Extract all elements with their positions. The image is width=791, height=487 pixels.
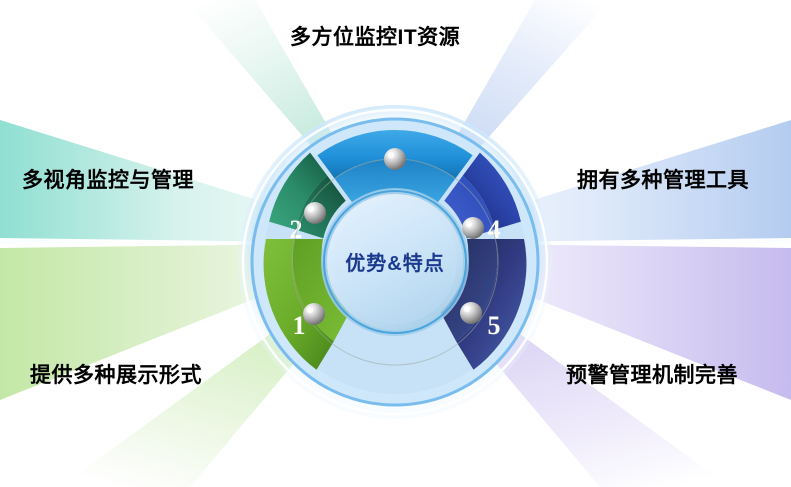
- segment-5-number: 5: [488, 311, 501, 340]
- label-top-left: 多视角监控与管理: [22, 170, 194, 191]
- center-title: 优势&特点: [345, 251, 444, 275]
- sphere-marker-5: [460, 302, 482, 324]
- sphere-marker-3: [384, 148, 406, 170]
- infographic-canvas: 3 2 1 4 5: [0, 0, 791, 487]
- label-top: 多方位监控IT资源: [290, 27, 460, 48]
- sphere-marker-4: [462, 217, 484, 239]
- wheel-graphic: 3 2 1 4 5: [0, 0, 791, 487]
- sphere-marker-2: [304, 202, 326, 224]
- label-bottom-right: 预警管理机制完善: [566, 365, 738, 386]
- sphere-marker-1: [303, 303, 325, 325]
- label-bottom-left: 提供多种展示形式: [30, 365, 202, 386]
- label-top-right: 拥有多种管理工具: [577, 170, 749, 191]
